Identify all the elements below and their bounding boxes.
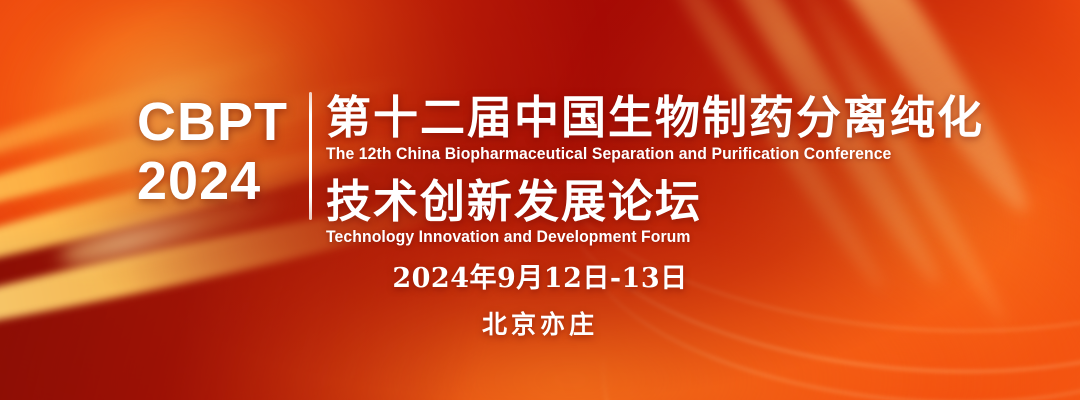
event-meta: 2024年9月12日-13日 北京亦庄 [0, 256, 1080, 341]
forum-title-en: Technology Innovation and Development Fo… [326, 228, 954, 247]
conference-title-en: The 12th China Biopharmaceutical Separat… [326, 145, 954, 164]
forum-title-cn: 技术创新发展论坛 [326, 178, 984, 226]
event-date: 2024年9月12日-13日 [0, 256, 1080, 295]
event-location: 北京亦庄 [0, 305, 1080, 341]
logo-acronym: CBPT [137, 96, 297, 149]
event-logo: CBPT 2024 [137, 96, 297, 208]
vertical-divider [309, 92, 312, 220]
logo-year: 2024 [137, 155, 297, 208]
conference-banner: CBPT 2024 第十二届中国生物制药分离纯化 The 12th China … [0, 0, 1080, 400]
title-block: 第十二届中国生物制药分离纯化 The 12th China Biopharmac… [326, 94, 984, 247]
conference-title-cn: 第十二届中国生物制药分离纯化 [326, 94, 984, 142]
banner-content: CBPT 2024 第十二届中国生物制药分离纯化 The 12th China … [0, 0, 1080, 400]
